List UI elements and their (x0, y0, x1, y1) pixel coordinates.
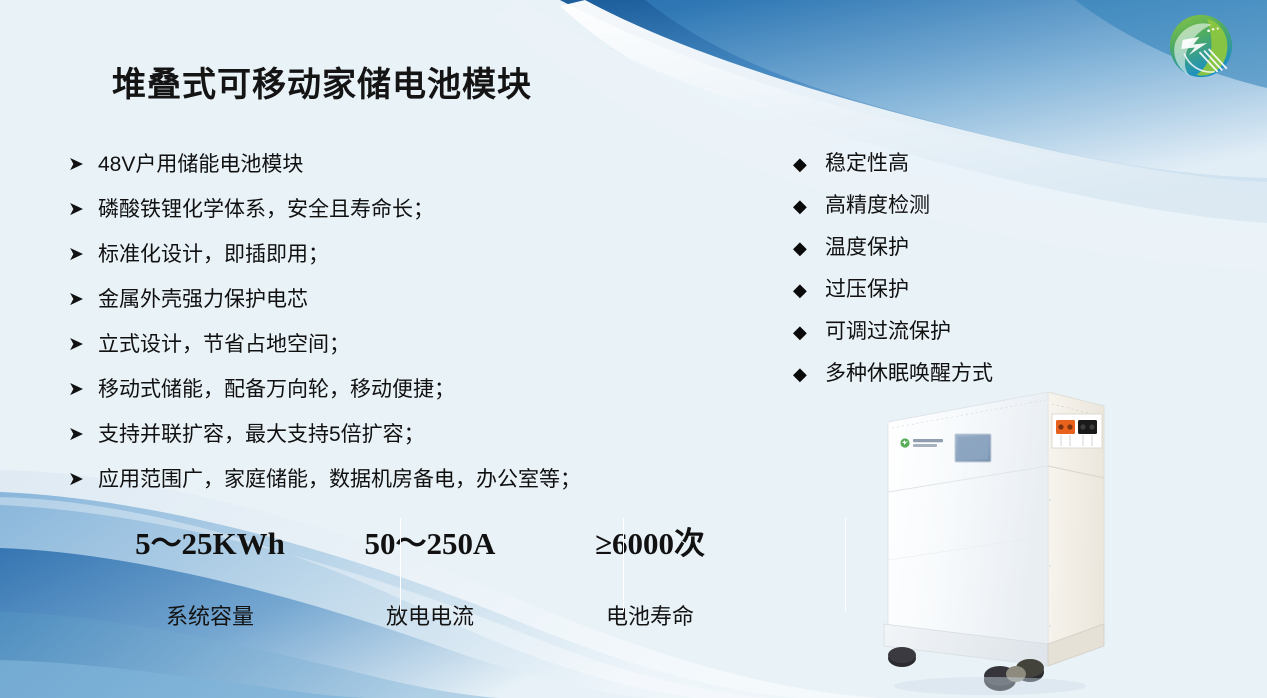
list-item-label: 支持并联扩容，最大支持5倍扩容； (98, 420, 425, 450)
arrow-bullet-icon: ➤ (68, 240, 98, 270)
list-item-label: 立式设计，节省占地空间； (98, 330, 350, 360)
list-item-label: 金属外壳强力保护电芯 (98, 285, 308, 315)
arrow-bullet-icon: ➤ (68, 375, 98, 405)
list-item: ➤ 标准化设计，即插即用； (68, 240, 708, 285)
leaf-circle-logo-icon (1163, 8, 1239, 84)
divider (845, 518, 846, 612)
diamond-bullet-icon: ◆ (793, 360, 825, 388)
arrow-bullet-icon: ➤ (68, 150, 98, 180)
product-display-panel (955, 434, 991, 462)
list-item: ➤ 48V户用储能电池模块 (68, 150, 708, 195)
stat-value: ≥6000次 (540, 518, 760, 563)
stat-label: 电池寿命 (540, 599, 760, 631)
list-item: ◆ 温度保护 (793, 234, 1123, 276)
list-item: ➤ 应用范围广，家庭储能，数据机房备电，办公室等； (68, 465, 708, 510)
right-feature-list: ◆ 稳定性高 ◆ 高精度检测 ◆ 温度保护 ◆ 过压保护 ◆ 可调过流保护 ◆ … (793, 150, 1123, 402)
arrow-bullet-icon: ➤ (68, 465, 98, 495)
stat-value: 5～25KWh (100, 518, 320, 563)
arrow-bullet-icon: ➤ (68, 330, 98, 360)
list-item-label: 稳定性高 (825, 150, 909, 178)
stat-column-capacity: 5～25KWh 系统容量 (100, 512, 320, 618)
list-item: ➤ 金属外壳强力保护电芯 (68, 285, 708, 330)
slide-canvas: 堆叠式可移动家储电池模块 ➤ 48V户用储能电池模块 ➤ 磷酸铁锂化学体系，安全… (0, 0, 1267, 698)
list-item-label: 温度保护 (825, 234, 909, 262)
page-title: 堆叠式可移动家储电池模块 (112, 57, 532, 106)
list-item: ◆ 过压保护 (793, 276, 1123, 318)
diamond-bullet-icon: ◆ (793, 318, 825, 346)
list-item-label: 应用范围广，家庭储能，数据机房备电，办公室等； (98, 465, 581, 495)
stat-label: 系统容量 (100, 599, 320, 631)
list-item-label: 48V户用储能电池模块 (98, 150, 303, 180)
list-item: ◆ 高精度检测 (793, 192, 1123, 234)
product-terminal-panel (1052, 414, 1102, 448)
stat-value: 50～250A (320, 518, 540, 563)
list-item: ➤ 立式设计，节省占地空间； (68, 330, 708, 375)
diamond-bullet-icon: ◆ (793, 234, 825, 262)
list-item-label: 磷酸铁锂化学体系，安全且寿命长； (98, 195, 434, 225)
left-feature-list: ➤ 48V户用储能电池模块 ➤ 磷酸铁锂化学体系，安全且寿命长； ➤ 标准化设计… (68, 150, 708, 510)
diamond-bullet-icon: ◆ (793, 192, 825, 220)
diamond-bullet-icon: ◆ (793, 150, 825, 178)
list-item-label: 高精度检测 (825, 192, 930, 220)
list-item-label: 移动式储能，配备万向轮，移动便捷； (98, 375, 455, 405)
list-item-label: 标准化设计，即插即用； (98, 240, 329, 270)
stat-label: 放电电流 (320, 599, 540, 631)
list-item-label: 可调过流保护 (825, 318, 951, 346)
stat-column-cycle-life: ≥6000次 电池寿命 (540, 512, 760, 618)
stat-column-current: 50～250A 放电电流 (320, 512, 540, 618)
list-item: ➤ 支持并联扩容，最大支持5倍扩容； (68, 420, 708, 465)
arrow-bullet-icon: ➤ (68, 420, 98, 450)
spec-stats-strip: 5～25KWh 系统容量 50～250A 放电电流 ≥6000次 电池寿命 (100, 512, 760, 618)
list-item: ◆ 稳定性高 (793, 150, 1123, 192)
list-item: ◆ 可调过流保护 (793, 318, 1123, 360)
list-item: ➤ 磷酸铁锂化学体系，安全且寿命长； (68, 195, 708, 240)
diamond-bullet-icon: ◆ (793, 276, 825, 304)
arrow-bullet-icon: ➤ (68, 195, 98, 225)
list-item-label: 过压保护 (825, 276, 909, 304)
arrow-bullet-icon: ➤ (68, 285, 98, 315)
list-item: ➤ 移动式储能，配备万向轮，移动便捷； (68, 375, 708, 420)
product-image-battery-cabinet (880, 380, 1110, 698)
